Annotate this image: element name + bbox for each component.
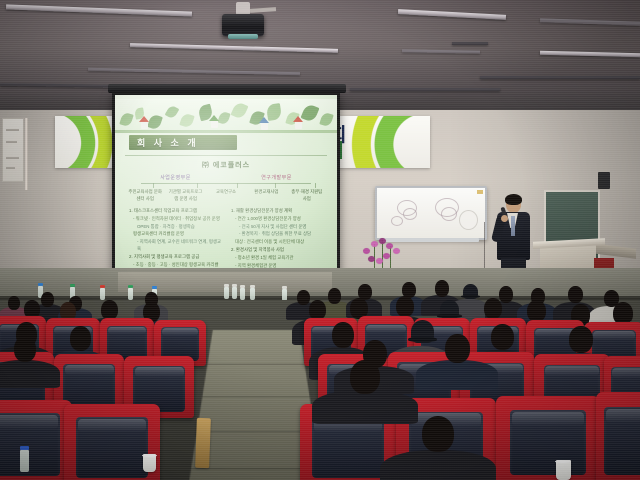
slide-columns: 1. 태스크포스센터 직업교육 프로그램 - 워크넷 · 인적자원 데이터 · … xyxy=(129,208,323,274)
slide-column-left: 1. 태스크포스센터 직업교육 프로그램 - 워크넷 · 인적자원 데이터 · … xyxy=(129,208,221,274)
presenter-hand xyxy=(501,215,508,222)
slide-bullet: - 전국 50개 지사 및 사업단 센터 운영 xyxy=(231,224,323,231)
slide-bullet: 2. 지역사회 및 평생교육 프로그램 공급 xyxy=(129,254,221,261)
whiteboard-marker-tray xyxy=(383,238,479,242)
slide-house-icon xyxy=(211,120,218,128)
ceiling-projector-icon xyxy=(222,14,264,36)
slide-house-icon xyxy=(295,121,302,129)
slide-ground-line xyxy=(115,130,337,133)
slide-house-icon xyxy=(141,121,148,129)
water-bottle xyxy=(224,287,229,299)
org-connector-line xyxy=(141,183,311,184)
slide-org-cells: 주민교육사업 문화센터 사업 기관별 교육프로그램 운영 사업 교육연구소 환경… xyxy=(125,189,327,202)
audience-member xyxy=(430,334,484,382)
org-cell: 기관별 교육프로그램 운영 사업 xyxy=(168,189,204,202)
projection-screen: 회 사 소 개 ㈜ 에코플러스 사업운영부문 연구개발부문 주민교육사업 문화센… xyxy=(112,92,340,277)
slide-bullet: 평생교육센터 커리큘럼 운영 xyxy=(129,231,221,238)
slide-bullet: - 연간 1,000명 환경상담전문가 양성 xyxy=(231,216,323,223)
ceiling-light-tube xyxy=(480,76,640,79)
audience-member xyxy=(330,360,400,416)
seat-armrest xyxy=(195,418,211,468)
projector-lens xyxy=(228,34,258,39)
water-bottle xyxy=(232,287,237,299)
org-cell: 교육연구소 xyxy=(208,189,244,202)
slide-bullet: 대상 : 전국센터 이용 및 시민단체 대상 xyxy=(231,239,323,246)
presenter-tie xyxy=(511,216,515,236)
org-cell: 총무·재경 지원팀 사업 xyxy=(289,189,325,202)
slide-company-name: ㈜ 에코플러스 xyxy=(125,160,327,170)
slide-bullet: - 워크넷 · 인적자원 데이터 · 취업정보 공유 운영 xyxy=(129,216,221,223)
audience-member xyxy=(400,416,476,480)
wall-poster xyxy=(2,118,24,182)
wall-speaker-icon xyxy=(598,172,610,189)
slide-bullet: 1. 태스크포스센터 직업교육 프로그램 xyxy=(129,208,221,215)
slide-surface: 회 사 소 개 ㈜ 에코플러스 사업운영부문 연구개발부문 주민교육사업 문화센… xyxy=(115,95,337,274)
ceiling-light-tube xyxy=(350,88,500,91)
auditorium-photo: 200 수회 우수취업 취업박람회 일시 2009. 학교 환경공학과 xyxy=(0,0,640,480)
slide-title: 회 사 소 개 xyxy=(129,135,237,150)
paper-cup xyxy=(556,460,571,480)
banner-chevron-right-icon xyxy=(338,116,424,168)
water-bottle xyxy=(240,288,245,300)
water-bottle xyxy=(128,288,133,300)
org-cell: 환경교재사업 xyxy=(248,189,284,202)
auditorium-seat[interactable] xyxy=(0,400,72,480)
paper-cup xyxy=(143,454,156,472)
ceiling-light-tube xyxy=(452,42,488,45)
audience-member xyxy=(0,336,48,380)
auditorium-seat[interactable] xyxy=(496,396,600,480)
slide-bullet: 2. 환경사업 및 지역봉사 사업 xyxy=(231,247,323,254)
auditorium-seat[interactable] xyxy=(596,392,640,480)
presenter-hair xyxy=(505,194,522,205)
slide-house-icon xyxy=(261,122,268,130)
water-bottle xyxy=(250,288,255,300)
whiteboard-clip-icon xyxy=(477,190,483,194)
slide-column-right: 1. 재활 환경상담전문가 양성 계획 - 연간 1,000명 환경상담전문가 … xyxy=(231,208,323,274)
slide-bullet: - 지역사회 연계, 교수진 네트워크 연계, 평생교육 xyxy=(129,239,221,253)
slide-bullet: - 청소년 환경 1일 체험 교육기관 xyxy=(231,255,323,262)
slide-header-graphic xyxy=(115,99,337,133)
slide-bullet: - 환경복지 · 취업 상담을 위한 무료 상담 xyxy=(231,231,323,238)
org-heading-left: 사업운영부문 xyxy=(160,174,191,181)
wall-pipe xyxy=(25,118,28,190)
slide-org-headings: 사업운영부문 연구개발부문 xyxy=(125,174,327,181)
wall-fixture xyxy=(459,210,478,230)
water-bottle xyxy=(20,450,29,472)
slide-bullet: 1. 재활 환경상담전문가 양성 계획 xyxy=(231,208,323,215)
org-cell: 주민교육사업 문화센터 사업 xyxy=(127,189,163,202)
water-bottle xyxy=(100,288,105,300)
slide-body: ㈜ 에코플러스 사업운영부문 연구개발부문 주민교육사업 문화센터 사업 기관별… xyxy=(125,155,327,266)
slide-bullet: OPEN 통합 · 자격증 · 평생학습 xyxy=(129,224,221,231)
org-heading-right: 연구개발부문 xyxy=(261,174,292,181)
